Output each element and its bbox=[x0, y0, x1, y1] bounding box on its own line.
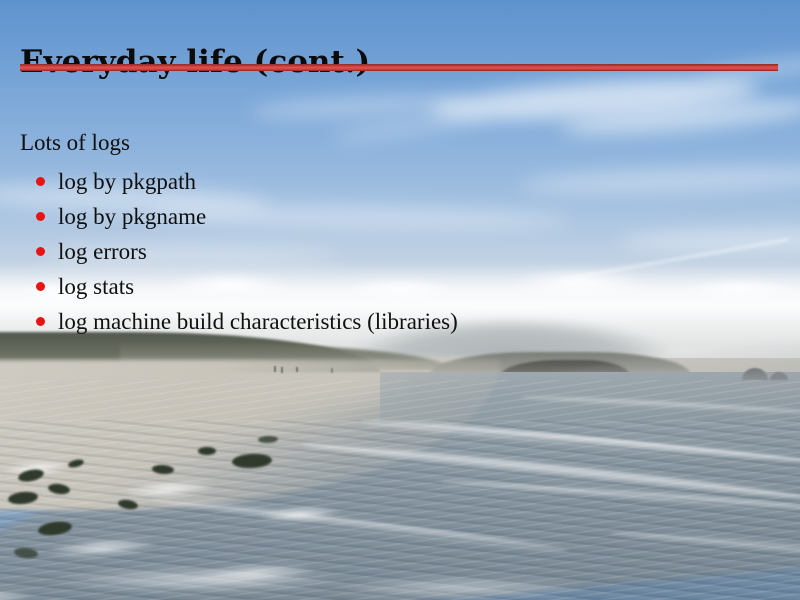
title-underline-rule bbox=[20, 64, 778, 71]
list-item: log machine build characteristics (libra… bbox=[36, 304, 780, 339]
slide-title: Everyday life (cont.) bbox=[20, 43, 370, 81]
red-dot-bullet-icon bbox=[36, 317, 45, 326]
list-item-label: log by pkgname bbox=[58, 204, 206, 229]
list-item: log by pkgname bbox=[36, 199, 780, 234]
list-item-label: log errors bbox=[58, 239, 147, 264]
body-lead-text: Lots of logs bbox=[20, 128, 780, 158]
list-item: log errors bbox=[36, 234, 780, 269]
bullet-list: log by pkgpath log by pkgname log errors… bbox=[20, 164, 780, 339]
list-item-label: log by pkgpath bbox=[58, 169, 196, 194]
red-dot-bullet-icon bbox=[36, 177, 45, 186]
list-item: log stats bbox=[36, 269, 780, 304]
distant-person bbox=[296, 367, 298, 372]
red-dot-bullet-icon bbox=[36, 212, 45, 221]
distant-person bbox=[331, 368, 333, 373]
seaweed-clump bbox=[198, 447, 216, 455]
list-item-label: log stats bbox=[58, 274, 134, 299]
slide-body: Lots of logs log by pkgpath log by pkgna… bbox=[20, 128, 780, 339]
shoreline-foam-foreground bbox=[0, 560, 640, 600]
presentation-slide: Everyday life (cont.) Lots of logs log b… bbox=[0, 0, 800, 600]
list-item-label: log machine build characteristics (libra… bbox=[58, 309, 458, 334]
red-dot-bullet-icon bbox=[36, 282, 45, 291]
red-dot-bullet-icon bbox=[36, 247, 45, 256]
list-item: log by pkgpath bbox=[36, 164, 780, 199]
distant-person bbox=[281, 367, 283, 373]
distant-person bbox=[274, 366, 276, 372]
